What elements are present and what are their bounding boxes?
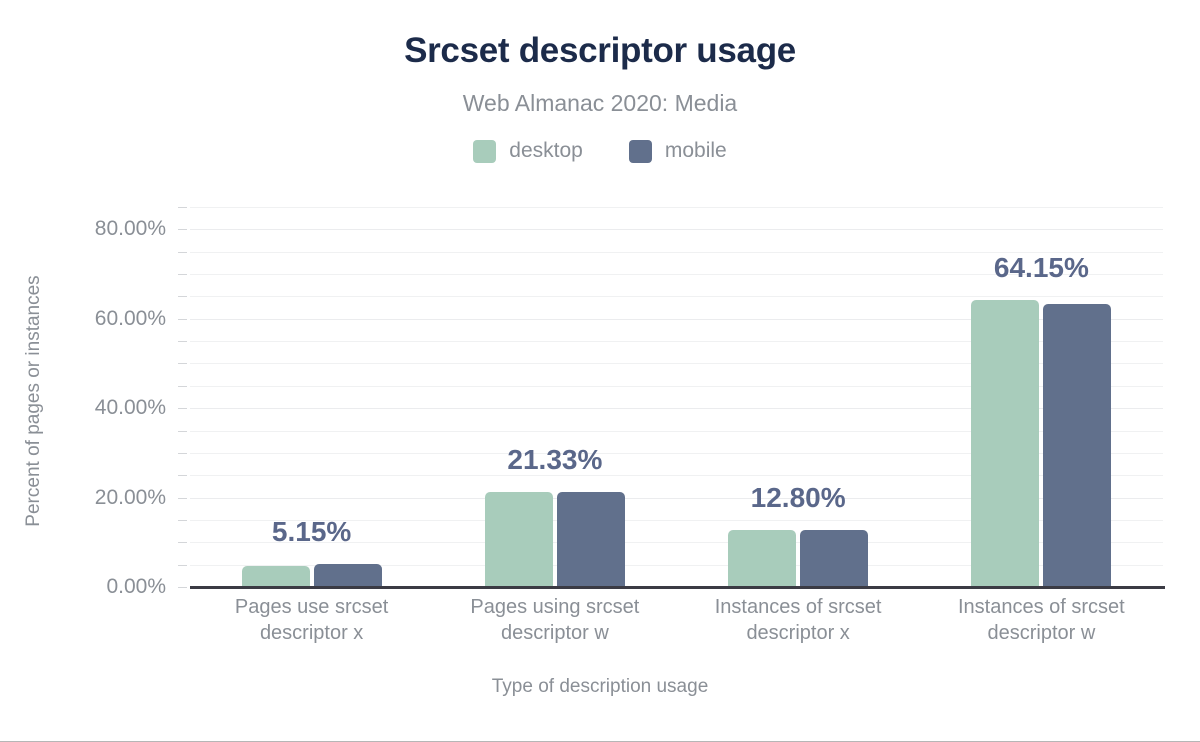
y-axis-tick-label: 40.00%: [95, 396, 166, 420]
y-axis-tick-mark: [178, 341, 187, 342]
x-axis-tick-line: Pages using srcset: [430, 594, 680, 620]
x-axis-tick-line: Pages use srcset: [187, 594, 437, 620]
chart-legend: desktop mobile: [0, 139, 1200, 163]
x-axis-tick-line: descriptor x: [673, 620, 923, 646]
y-axis-tick-label: 60.00%: [95, 307, 166, 331]
legend-item-desktop[interactable]: desktop: [473, 139, 583, 163]
y-axis-tick-mark: [178, 207, 187, 208]
x-axis-tick-line: descriptor w: [916, 620, 1166, 646]
y-axis-tick-mark: [178, 408, 187, 409]
y-axis-tick-mark: [178, 252, 187, 253]
y-axis-tick-label: 80.00%: [95, 217, 166, 241]
y-axis-tick-mark: [178, 453, 187, 454]
legend-swatch-desktop: [473, 140, 496, 163]
y-axis-tick-mark: [178, 319, 187, 320]
x-axis-tick-label: Pages use srcsetdescriptor x: [187, 594, 437, 646]
y-axis-tick-mark: [178, 229, 187, 230]
bar-desktop[interactable]: [485, 492, 553, 587]
chart-subtitle: Web Almanac 2020: Media: [0, 90, 1200, 117]
legend-label-desktop: desktop: [509, 139, 583, 163]
x-axis-tick-line: descriptor x: [187, 620, 437, 646]
bar-desktop[interactable]: [971, 300, 1039, 587]
x-axis-tick-label: Instances of srcsetdescriptor x: [673, 594, 923, 646]
x-axis-title: Type of description usage: [0, 676, 1200, 698]
x-axis-tick-label: Instances of srcsetdescriptor w: [916, 594, 1166, 646]
legend-item-mobile[interactable]: mobile: [629, 139, 727, 163]
y-axis-tick-mark: [178, 587, 187, 588]
y-axis-tick-mark: [178, 296, 187, 297]
y-axis-tick-mark: [178, 475, 187, 476]
x-axis-tick-line: Instances of srcset: [673, 594, 923, 620]
x-axis-tick-line: descriptor w: [430, 620, 680, 646]
bar-value-label: 12.80%: [751, 482, 846, 514]
bar-value-label: 21.33%: [507, 444, 602, 476]
x-axis-line: [190, 586, 1165, 589]
y-axis-title: Percent of pages or instances: [23, 261, 45, 541]
y-axis-tick-mark: [178, 542, 187, 543]
bar-group: [433, 207, 676, 587]
chart-title: Srcset descriptor usage: [0, 31, 1200, 71]
chart-figure: Srcset descriptor usage Web Almanac 2020…: [0, 0, 1200, 742]
bar-desktop[interactable]: [728, 530, 796, 587]
bar-mobile[interactable]: [314, 564, 382, 587]
y-axis-tick-mark: [178, 565, 187, 566]
y-axis-tick-mark: [178, 498, 187, 499]
legend-swatch-mobile: [629, 140, 652, 163]
y-axis-tick-label: 20.00%: [95, 486, 166, 510]
y-axis-tick-mark: [178, 431, 187, 432]
y-axis-tick-mark: [178, 520, 187, 521]
x-axis-tick-label: Pages using srcsetdescriptor w: [430, 594, 680, 646]
bar-value-label: 64.15%: [994, 252, 1089, 284]
y-axis-tick-label: 0.00%: [106, 575, 166, 599]
y-axis-tick-mark: [178, 274, 187, 275]
bar-mobile[interactable]: [557, 492, 625, 587]
bar-group: [677, 207, 920, 587]
bar-mobile[interactable]: [800, 530, 868, 587]
x-axis-tick-line: Instances of srcset: [916, 594, 1166, 620]
legend-label-mobile: mobile: [665, 139, 727, 163]
y-axis-tick-mark: [178, 386, 187, 387]
bar-value-label: 5.15%: [272, 516, 351, 548]
bar-mobile[interactable]: [1043, 304, 1111, 587]
y-axis-tick-mark: [178, 363, 187, 364]
bar-desktop[interactable]: [242, 566, 310, 587]
